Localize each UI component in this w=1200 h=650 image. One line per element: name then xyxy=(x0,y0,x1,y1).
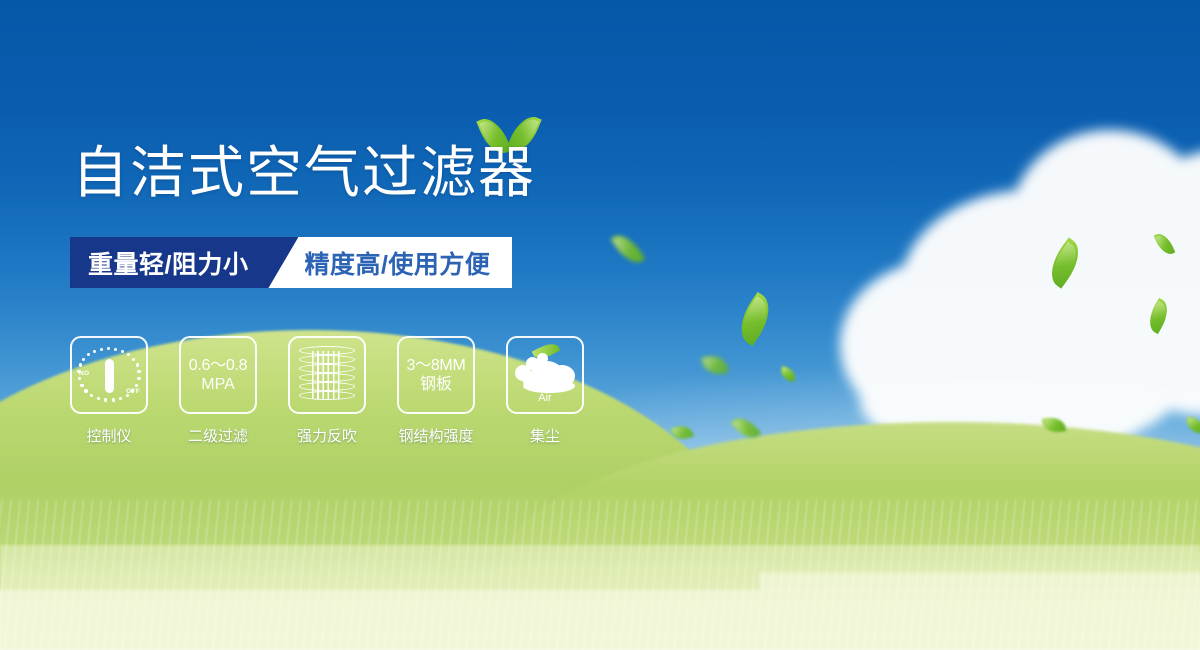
pressure-range-text: 0.6～0.8 xyxy=(189,356,247,375)
feature-icon-box: 0.6～0.8 MPA xyxy=(179,336,257,414)
gauge-needle xyxy=(105,359,114,393)
feature-list: NO OFF 控制仪 0.6～0.8 MPA 二级过滤 xyxy=(70,336,584,446)
feature-label: 二级过滤 xyxy=(188,425,248,446)
plate-thickness-text: 3～8MM xyxy=(407,356,466,375)
grass-texture xyxy=(0,500,1200,650)
cumulus-cloud-right xyxy=(840,110,1200,440)
feature-icon-box: Air xyxy=(506,336,584,414)
feature-label: 强力反吹 xyxy=(297,425,357,446)
product-banner: 自洁式空气过滤器 重量轻/阻力小 精度高/使用方便 xyxy=(0,0,1200,650)
feature-icon-box: 3～8MM 钢板 xyxy=(397,336,475,414)
filter-coil-icon xyxy=(299,346,355,404)
tagline-badge: 重量轻/阻力小 精度高/使用方便 xyxy=(70,237,512,288)
air-label: Air xyxy=(513,392,577,404)
feature-item-backflush[interactable]: 强力反吹 xyxy=(288,336,366,446)
tagline-divider xyxy=(268,237,298,288)
gauge-label-off: OFF xyxy=(126,388,140,395)
plate-material-text: 钢板 xyxy=(420,375,452,394)
pressure-unit-text: MPA xyxy=(201,375,234,394)
feature-item-secondary-filter[interactable]: 0.6～0.8 MPA 二级过滤 xyxy=(179,336,257,446)
feature-label: 钢结构强度 xyxy=(398,425,473,446)
feature-label: 控制仪 xyxy=(86,425,131,446)
feature-item-controller[interactable]: NO OFF 控制仪 xyxy=(70,336,148,446)
feature-item-dust-collection[interactable]: Air 集尘 xyxy=(506,336,584,446)
feature-icon-box: NO OFF xyxy=(70,336,148,414)
feature-item-steel-strength[interactable]: 3～8MM 钢板 钢结构强度 xyxy=(397,336,475,446)
gauge-dial-icon: NO OFF xyxy=(78,346,140,404)
air-cloud-icon: Air xyxy=(513,349,577,401)
page-title: 自洁式空气过滤器 xyxy=(72,145,536,201)
feature-icon-box xyxy=(288,336,366,414)
tagline-left: 重量轻/阻力小 xyxy=(70,237,268,288)
gauge-label-no: NO xyxy=(79,370,89,377)
tagline-right: 精度高/使用方便 xyxy=(298,237,512,288)
feature-label: 集尘 xyxy=(530,425,560,446)
